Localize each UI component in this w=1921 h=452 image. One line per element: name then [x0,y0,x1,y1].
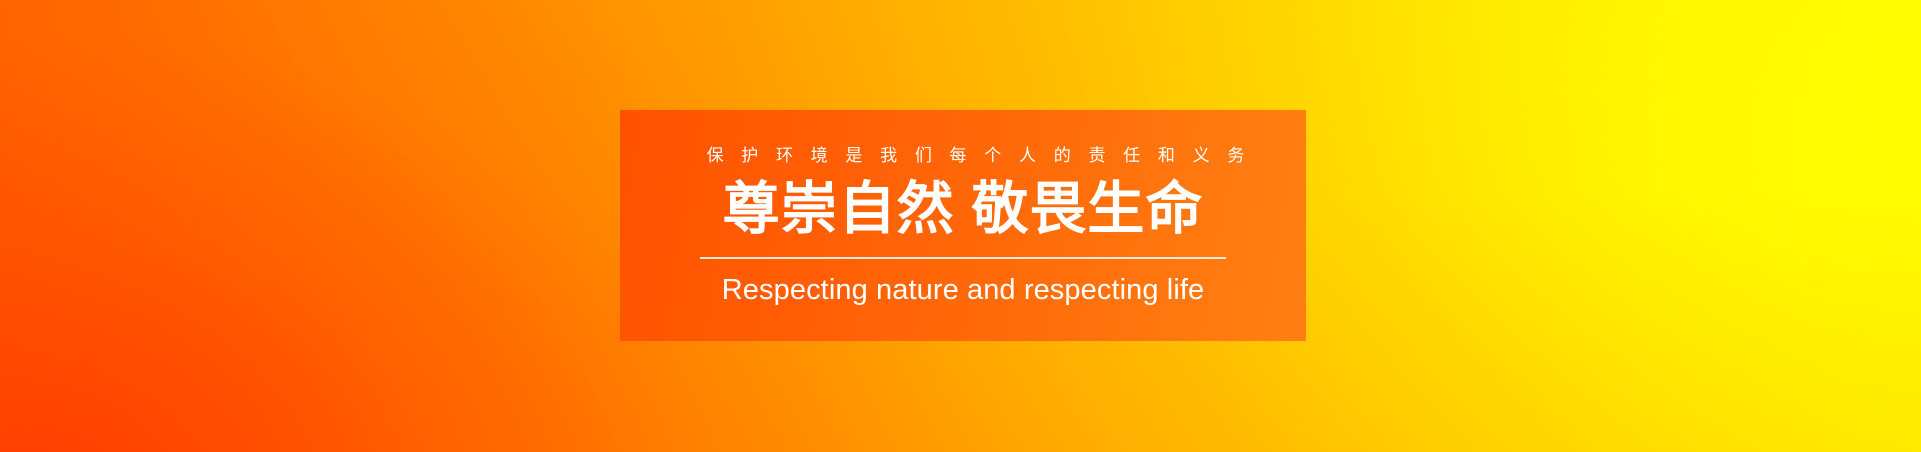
message-panel: 保 护 环 境 是 我 们 每 个 人 的 责 任 和 义 务 尊崇自然 敬畏生… [620,110,1306,341]
panel-divider-rule [700,257,1226,259]
panel-headline-text: 尊崇自然 敬畏生命 [700,176,1226,242]
environmental-banner: 保 护 环 境 是 我 们 每 个 人 的 责 任 和 义 务 尊崇自然 敬畏生… [0,0,1921,452]
message-panel-content: 保 护 环 境 是 我 们 每 个 人 的 责 任 和 义 务 尊崇自然 敬畏生… [700,110,1226,341]
panel-eyebrow-text: 保 护 环 境 是 我 们 每 个 人 的 责 任 和 义 务 [700,145,1226,167]
panel-subline-text: Respecting nature and respecting life [700,270,1226,310]
